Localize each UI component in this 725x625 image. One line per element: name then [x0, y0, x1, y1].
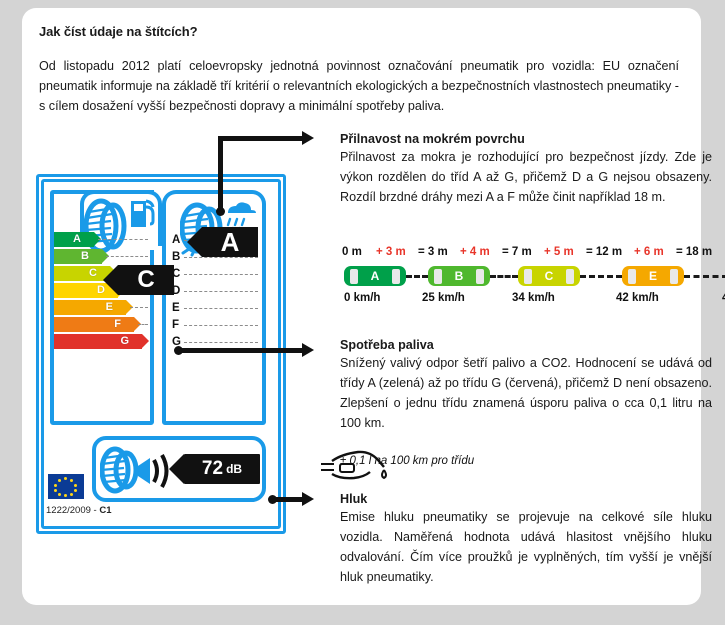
chart-dash-4 — [684, 275, 725, 278]
leader-line — [184, 325, 258, 326]
distance-total-4: = 18 m — [676, 246, 712, 258]
chart-dash-2 — [490, 275, 518, 278]
wet-grade-D: D — [172, 285, 180, 297]
efficiency-grade-label: E — [106, 300, 113, 315]
wet-grade-E: E — [172, 302, 180, 314]
speed-label-E: 42 km/h — [616, 292, 659, 304]
efficiency-grade-label: B — [81, 249, 89, 264]
page-title: Jak číst údaje na štítcích? — [39, 24, 197, 39]
car-marker-A: A — [344, 266, 406, 286]
fuel-nozzle-icon — [318, 448, 388, 488]
info-card: Jak číst údaje na štítcích? Od listopadu… — [22, 8, 701, 605]
wet-grade-B: B — [172, 251, 180, 263]
fuel-note: ± 0,1 l na 100 km pro třídu — [340, 455, 474, 467]
car-grade-label: C — [518, 266, 580, 286]
section-fuel: Spotřeba paliva Snížený valivý odpor šet… — [340, 338, 712, 433]
efficiency-grade-label: F — [114, 317, 121, 332]
connector-arrow-noise — [302, 492, 314, 506]
leader-line — [98, 239, 148, 240]
connector-line-noise — [272, 497, 304, 502]
leader-line — [184, 274, 258, 275]
regulation-text: 1222/2009 - C1 — [46, 505, 112, 516]
distance-increment-3: + 5 m — [544, 246, 574, 258]
noise-value: 72 — [202, 458, 223, 480]
eu-flag-icon — [48, 474, 84, 499]
distance-total-2: = 7 m — [502, 246, 532, 258]
section-heading-fuel: Spotřeba paliva — [340, 338, 712, 352]
speed-label-B: 25 km/h — [422, 292, 465, 304]
leader-line — [138, 324, 148, 325]
efficiency-bar-F: F — [54, 317, 134, 332]
fuel-rating-badge: C — [118, 265, 174, 295]
section-noise: Hluk Emise hluku pneumatiky se projevuje… — [340, 492, 712, 587]
section-wet-grip: Přilnavost na mokrém povrchu Přilnavost … — [340, 132, 712, 207]
car-grade-label: E — [622, 266, 684, 286]
connector-arrow-fuel — [302, 343, 314, 357]
connector-arrow-wet — [302, 131, 314, 145]
chart-dash-1 — [406, 275, 428, 278]
regulation-number: 1222/2009 - — [46, 505, 97, 516]
wet-grade-C: C — [172, 268, 180, 280]
leader-line — [130, 307, 148, 308]
distance-total-0: 0 m — [342, 246, 362, 258]
efficiency-bar-B: B — [54, 249, 102, 264]
section-body-wet: Přilnavost za mokra je rozhodující pro b… — [340, 147, 712, 207]
distance-increment-1: + 3 m — [376, 246, 406, 258]
efficiency-bar-C: C — [54, 266, 110, 281]
wet-grade-F: F — [172, 319, 179, 331]
efficiency-bar-A: A — [54, 232, 94, 247]
braking-distance-chart: 0 m + 3 m = 3 m + 4 m = 7 m + 5 m = 12 m… — [340, 246, 712, 310]
noise-badge: 72 dB — [184, 454, 260, 484]
efficiency-grade-label: G — [120, 334, 129, 349]
connector-line-wet-horizontal — [218, 136, 304, 141]
fuel-pump-icon — [130, 198, 156, 228]
chart-dash-3 — [580, 275, 622, 278]
car-marker-C: C — [518, 266, 580, 286]
distance-total-1: = 3 m — [418, 246, 448, 258]
noise-unit: dB — [226, 462, 242, 476]
leader-line — [106, 256, 148, 257]
leader-line — [184, 308, 258, 309]
wet-grade-A: A — [172, 234, 180, 246]
distance-increment-4: + 6 m — [634, 246, 664, 258]
section-heading-wet: Přilnavost na mokrém povrchu — [340, 132, 712, 146]
connector-line-fuel — [178, 348, 304, 353]
efficiency-bar-E: E — [54, 300, 126, 315]
speed-label-A: 0 km/h — [344, 292, 380, 304]
distance-increment-2: + 4 m — [460, 246, 490, 258]
section-heading-noise: Hluk — [340, 492, 712, 506]
efficiency-grade-label: C — [89, 266, 97, 281]
car-marker-B: B — [428, 266, 490, 286]
speed-label-C: 34 km/h — [512, 292, 555, 304]
section-body-fuel: Snížený valivý odpor šetří palivo a CO2.… — [340, 353, 712, 433]
car-marker-E: E — [622, 266, 684, 286]
leader-line — [184, 291, 258, 292]
efficiency-bar-G: G — [54, 334, 142, 349]
connector-line-wet-vertical — [218, 136, 223, 212]
regulation-class: C1 — [99, 505, 111, 516]
intro-paragraph: Od listopadu 2012 platí celoevropsky jed… — [39, 56, 679, 116]
wet-rating-badge: A — [202, 227, 258, 257]
leader-line — [184, 342, 258, 343]
fuel-rating-value: C — [137, 266, 154, 294]
efficiency-grade-label: A — [73, 232, 81, 247]
distance-total-3: = 12 m — [586, 246, 622, 258]
car-grade-label: A — [344, 266, 406, 286]
eu-tyre-label-graphic: A B C D E F G C A B C D E F G — [36, 174, 286, 534]
car-grade-label: B — [428, 266, 490, 286]
section-body-noise: Emise hluku pneumatiky se projevuje na c… — [340, 507, 712, 587]
wet-rating-value: A — [221, 227, 240, 258]
